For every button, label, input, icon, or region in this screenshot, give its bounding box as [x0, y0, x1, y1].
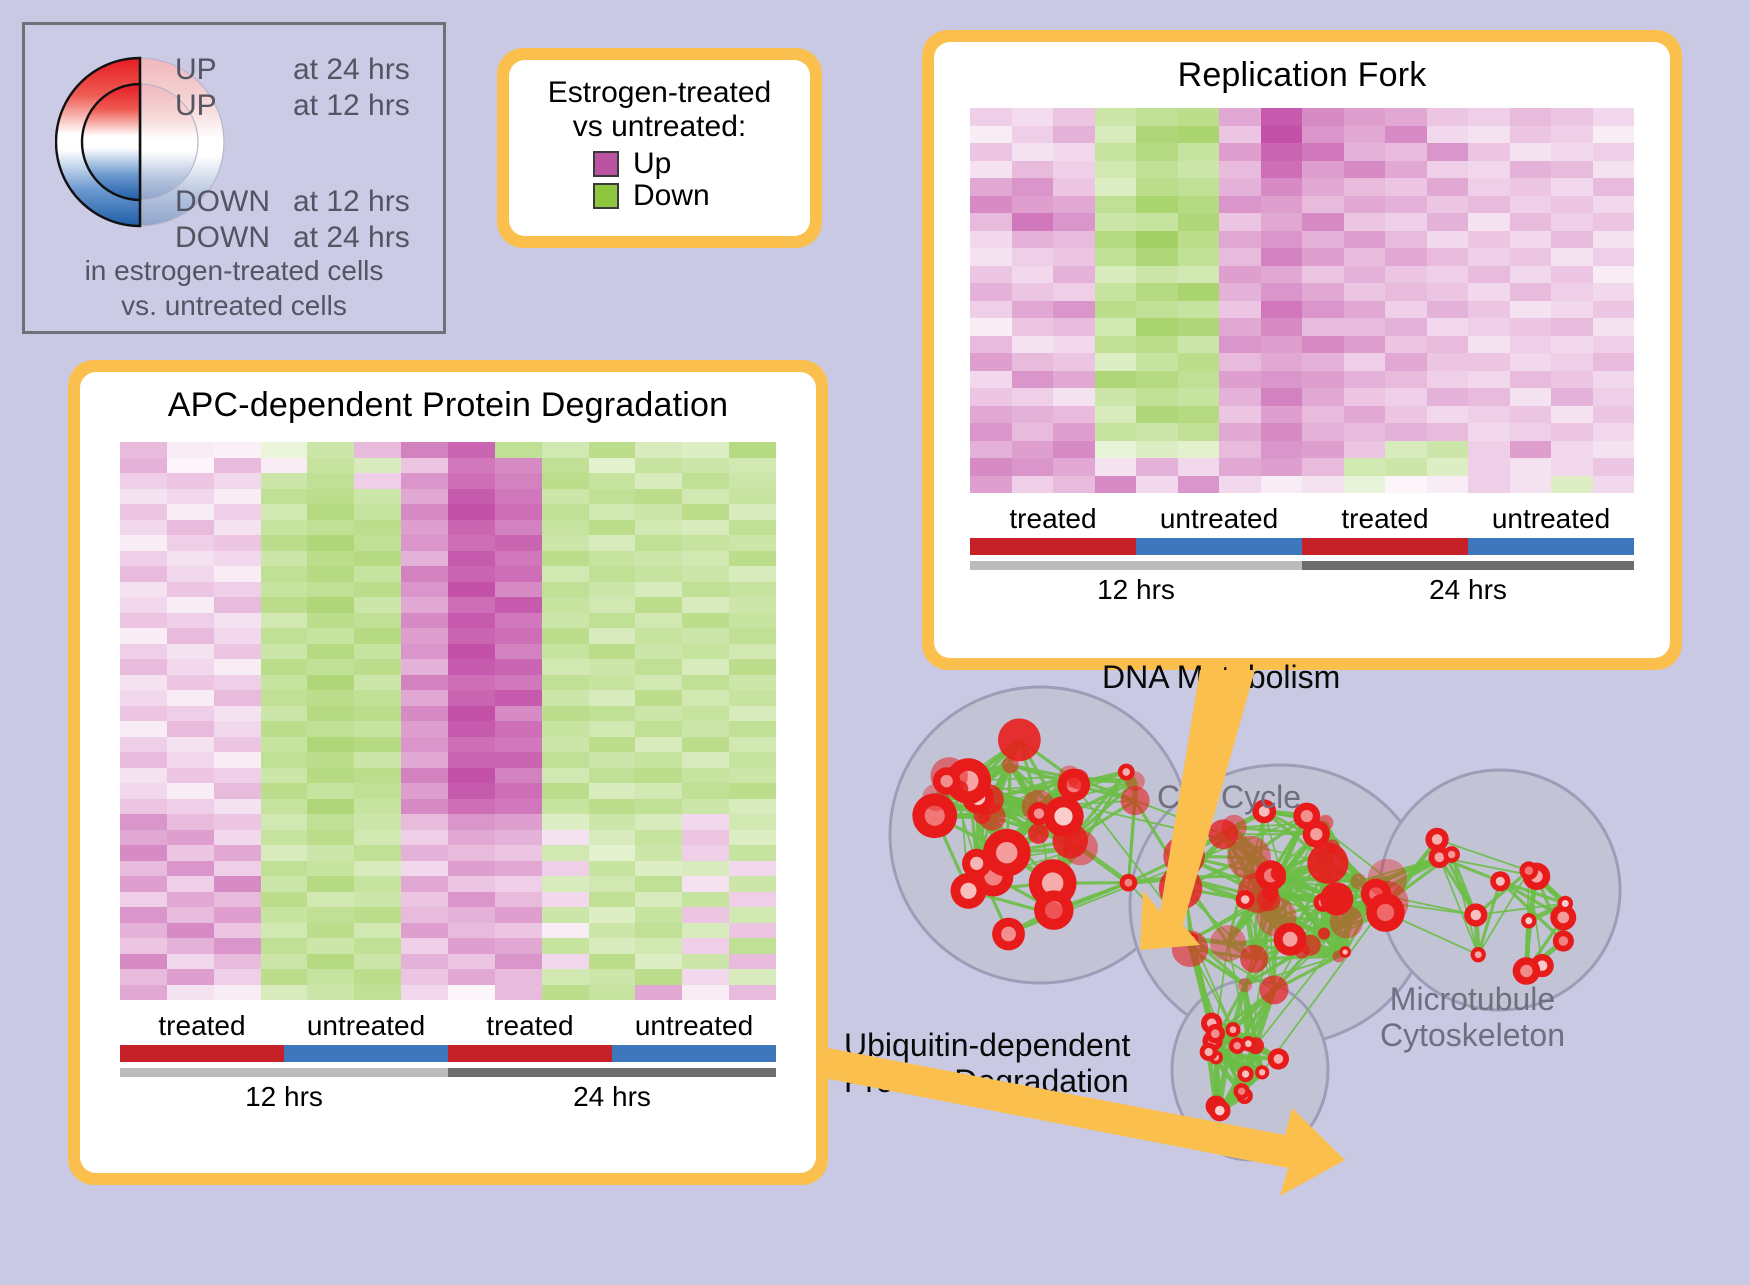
heatmap-cell [1219, 108, 1261, 126]
heatmap-cell [120, 861, 167, 877]
heatmap-cell [970, 196, 1012, 214]
heatmap-cell [1302, 283, 1344, 301]
heatmap-cell [1344, 476, 1386, 494]
heatmap-cell [214, 969, 261, 985]
heatmap-cell [1012, 231, 1054, 249]
network-node[interactable] [1039, 901, 1064, 926]
heatmap-cell [1593, 318, 1635, 336]
heatmap-cell [401, 954, 448, 970]
network-node-center [1559, 936, 1569, 946]
heatmap-cell [729, 613, 776, 629]
heatmap-cell [1593, 423, 1635, 441]
heatmap-cell [542, 721, 589, 737]
heatmap-cell [1178, 283, 1220, 301]
heatmap-cell [635, 520, 682, 536]
heatmap-cell [589, 845, 636, 861]
group-label: treated [1302, 503, 1468, 535]
heatmap-cell [1095, 213, 1137, 231]
heatmap-cell [635, 938, 682, 954]
heatmap-cell [542, 892, 589, 908]
heatmap-cell [1551, 248, 1593, 266]
heatmap-cell [635, 721, 682, 737]
key-row: UP at 12 hrs [175, 91, 445, 121]
heatmap-cell [635, 923, 682, 939]
heatmap-cell [970, 283, 1012, 301]
key-timepoint: at 24 hrs [293, 223, 410, 253]
heatmap-cell [1136, 266, 1178, 284]
heatmap-cell [729, 628, 776, 644]
heatmap-cell [1593, 266, 1635, 284]
heatmap-cell [401, 845, 448, 861]
time-bar-12hrs [970, 561, 1302, 570]
network-node-center [1054, 807, 1072, 825]
heatmap-cell [167, 969, 214, 985]
heatmap-cell [401, 768, 448, 784]
heatmap-cell [682, 659, 729, 675]
heatmap-cell [970, 108, 1012, 126]
heatmap-cell [120, 985, 167, 1001]
heatmap-cell [1136, 231, 1178, 249]
heatmap-cell [214, 597, 261, 613]
heatmap-cell [1344, 178, 1386, 196]
heatmap-cell [261, 582, 308, 598]
heatmap-cell [729, 845, 776, 861]
heatmap-axis: treated untreated treated untreated 12 h [970, 503, 1634, 606]
heatmap-cell [1095, 423, 1137, 441]
heatmap-cell [354, 690, 401, 706]
network-node[interactable] [973, 807, 990, 824]
heatmap-cell [682, 737, 729, 753]
heatmap-cell [1012, 388, 1054, 406]
heatmap-cell [682, 923, 729, 939]
heatmap-cell [120, 923, 167, 939]
network-node[interactable] [1238, 978, 1252, 992]
heatmap-cell [542, 985, 589, 1001]
network-node-center [1434, 852, 1444, 862]
heatmap-cell [307, 814, 354, 830]
heatmap-cell [1053, 458, 1095, 476]
heatmap-cell [354, 768, 401, 784]
heatmap-cell [495, 938, 542, 954]
heatmap-cell [261, 597, 308, 613]
heatmap-cell [354, 520, 401, 536]
heatmap-cell [401, 628, 448, 644]
heatmap-cell [1178, 458, 1220, 476]
heatmap-cell [1178, 318, 1220, 336]
heatmap-cell [635, 551, 682, 567]
heatmap-cell [307, 458, 354, 474]
heatmap-cell [1427, 283, 1469, 301]
network-node[interactable] [922, 784, 949, 811]
heatmap-cell [1344, 406, 1386, 424]
heatmap-cell [1551, 126, 1593, 144]
heatmap-cell [1053, 266, 1095, 284]
heatmap-cell [542, 783, 589, 799]
heatmap-cell [1468, 336, 1510, 354]
heatmap-cell [1053, 318, 1095, 336]
heatmap-cell [120, 721, 167, 737]
heatmap-cell [1427, 178, 1469, 196]
network-node[interactable] [1365, 881, 1409, 925]
network-node-center [1448, 851, 1456, 859]
heatmap-cell [682, 644, 729, 660]
heatmap-cell [1427, 126, 1469, 144]
heatmap-cell [729, 582, 776, 598]
heatmap-cell [1261, 161, 1303, 179]
heatmap-cell [1551, 231, 1593, 249]
heatmap-cell [682, 907, 729, 923]
heatmap-cell [1261, 196, 1303, 214]
heatmap-cell [354, 954, 401, 970]
network-node[interactable] [1002, 757, 1019, 774]
heatmap-cell [1593, 388, 1635, 406]
group-labels: treated untreated treated untreated [970, 503, 1634, 535]
heatmap-cell [354, 783, 401, 799]
network-node[interactable] [1318, 928, 1330, 940]
heatmap-cell [1344, 196, 1386, 214]
heatmap-cell [970, 458, 1012, 476]
heatmap-cell [1136, 406, 1178, 424]
heatmap-cell [120, 830, 167, 846]
heatmap-cell [354, 737, 401, 753]
heatmap-cell [261, 690, 308, 706]
network-node[interactable] [1330, 905, 1363, 938]
heatmap-cell [682, 876, 729, 892]
heatmap-cell [354, 861, 401, 877]
heatmap-cell [729, 706, 776, 722]
heatmap-cell [1344, 353, 1386, 371]
heatmap-cell [1427, 476, 1469, 494]
heatmap-cell [1385, 336, 1427, 354]
heatmap-cell [401, 830, 448, 846]
cluster-label-dna-metabolism: DNA Metabolism [1102, 660, 1340, 696]
heatmap-cell [448, 675, 495, 691]
heatmap-cell [120, 566, 167, 582]
heatmap-cell [635, 566, 682, 582]
heatmap-cell [970, 301, 1012, 319]
heatmap-cell [307, 644, 354, 660]
heatmap-cell [167, 613, 214, 629]
heatmap-cell [307, 783, 354, 799]
heatmap-cell [495, 783, 542, 799]
heatmap-cell [167, 473, 214, 489]
heatmap-cell [970, 336, 1012, 354]
heatmap-cell [1468, 161, 1510, 179]
heatmap-cell [307, 954, 354, 970]
heatmap-cell [1344, 318, 1386, 336]
heatmap-cell [448, 504, 495, 520]
heatmap-cell [1510, 476, 1552, 494]
heatmap-cell [495, 814, 542, 830]
heatmap-cell [729, 938, 776, 954]
heatmap-cell [354, 752, 401, 768]
heatmap-cell [261, 969, 308, 985]
heatmap-cell [589, 969, 636, 985]
heatmap-cell [635, 892, 682, 908]
heatmap-cell [1095, 178, 1137, 196]
heatmap-cell [1427, 143, 1469, 161]
heatmap-cell [1053, 423, 1095, 441]
network-node-center [1242, 1070, 1249, 1077]
time-bar [970, 561, 1634, 570]
heatmap-cell [354, 907, 401, 923]
network-node[interactable] [1271, 866, 1286, 881]
heatmap-cell [448, 845, 495, 861]
heatmap-cell [729, 923, 776, 939]
heatmap-cell [214, 923, 261, 939]
heatmap-cell [1261, 213, 1303, 231]
heatmap-cell [635, 659, 682, 675]
heatmap-cell [1178, 213, 1220, 231]
heatmap-cell [589, 768, 636, 784]
heatmap-cell [682, 845, 729, 861]
heatmap-cell [1261, 423, 1303, 441]
network-node[interactable] [1068, 769, 1088, 789]
heatmap-cell [1261, 336, 1303, 354]
heatmap-cell [1510, 266, 1552, 284]
heatmap-cell [167, 442, 214, 458]
heatmap-cell [261, 799, 308, 815]
heatmap-cell [1551, 336, 1593, 354]
heatmap-cell [1261, 476, 1303, 494]
heatmap-cell [1468, 213, 1510, 231]
heatmap-cell [401, 752, 448, 768]
heatmap-cell [1012, 108, 1054, 126]
heatmap-cell [120, 613, 167, 629]
heatmap-cell [448, 799, 495, 815]
network-node[interactable] [998, 718, 1041, 761]
heatmap-cell [1593, 441, 1635, 459]
pathway-network[interactable]: DNA Metabolism Cell Cycle Microtubule Cy… [880, 620, 1750, 1280]
heatmap-cell [1344, 441, 1386, 459]
heatmap-cell [1095, 336, 1137, 354]
heatmap-cell [261, 892, 308, 908]
heatmap-cell [542, 706, 589, 722]
heatmap-cell [448, 582, 495, 598]
heatmap-cell [354, 892, 401, 908]
heatmap-cell [1219, 441, 1261, 459]
heatmap-cell [495, 582, 542, 598]
network-node[interactable] [1351, 873, 1367, 889]
heatmap-cell [401, 969, 448, 985]
heatmap-cell [167, 752, 214, 768]
heatmap-cell [354, 706, 401, 722]
untreated-bar-segment [612, 1045, 776, 1062]
heatmap-cell [261, 814, 308, 830]
heatmap-cell [354, 923, 401, 939]
heatmap-cell [970, 476, 1012, 494]
heatmap-cell [682, 551, 729, 567]
legend-heading: Estrogen-treated vs untreated: [521, 76, 798, 143]
heatmap-cell [261, 938, 308, 954]
heatmap-cell [1095, 248, 1137, 266]
network-node[interactable] [1172, 931, 1208, 967]
heatmap-cell [1385, 458, 1427, 476]
heatmap-cell [401, 706, 448, 722]
heatmap-cell [1219, 196, 1261, 214]
heatmap-cell [589, 752, 636, 768]
heatmap-cell [261, 985, 308, 1001]
heatmap-cell [214, 706, 261, 722]
heatmap-cell [307, 659, 354, 675]
heatmap-cell [1095, 318, 1137, 336]
heatmap-cell [682, 814, 729, 830]
heatmap-cell [1053, 196, 1095, 214]
heatmap-cell [542, 597, 589, 613]
heatmap-cell [729, 473, 776, 489]
heatmap-cell [1302, 126, 1344, 144]
up-swatch-icon [593, 151, 619, 177]
heatmap-cell [1551, 371, 1593, 389]
heatmap-cell [1510, 178, 1552, 196]
heatmap-cell [635, 830, 682, 846]
heatmap-cell [1012, 423, 1054, 441]
heatmap-cell [120, 675, 167, 691]
heatmap-cell [1261, 231, 1303, 249]
heatmap-cell [1593, 178, 1635, 196]
heatmap-cell [167, 706, 214, 722]
heatmap-cell [167, 489, 214, 505]
heatmap-cell [1178, 423, 1220, 441]
heatmap-cell [120, 737, 167, 753]
heatmap-cell [120, 969, 167, 985]
heatmap-cell [1302, 178, 1344, 196]
heatmap-cell [1136, 441, 1178, 459]
heatmap-cell [1261, 126, 1303, 144]
heatmap-cell [214, 566, 261, 582]
heatmap-cell [307, 892, 354, 908]
heatmap-cell [448, 628, 495, 644]
heatmap-cell [1053, 283, 1095, 301]
heatmap-cell [682, 752, 729, 768]
heatmap-cell [401, 566, 448, 582]
heatmap-cell [261, 768, 308, 784]
heatmap-cell [401, 985, 448, 1001]
network-node[interactable] [1028, 823, 1049, 844]
heatmap-cell [401, 504, 448, 520]
heatmap-cell [448, 458, 495, 474]
heatmap-cell [1136, 126, 1178, 144]
heatmap-cell [261, 954, 308, 970]
network-node[interactable] [1210, 925, 1246, 961]
heatmap-cell [261, 923, 308, 939]
heatmap-cell [1136, 318, 1178, 336]
heatmap-cell [1302, 248, 1344, 266]
heatmap-cell [1012, 196, 1054, 214]
heatmap-cell [542, 566, 589, 582]
heatmap-cell [1385, 231, 1427, 249]
key-direction: UP [175, 91, 293, 121]
heatmap-cell [589, 938, 636, 954]
heatmap-cell [542, 659, 589, 675]
heatmap-cell [448, 768, 495, 784]
heatmap-cell [1261, 266, 1303, 284]
key-row: UP at 24 hrs [175, 55, 445, 85]
heatmap-cell [261, 675, 308, 691]
network-node[interactable] [1260, 975, 1289, 1004]
heatmap-cell [1427, 441, 1469, 459]
heatmap-cell [1012, 248, 1054, 266]
heatmap-cell [542, 830, 589, 846]
network-node-center [1238, 1088, 1245, 1095]
heatmap-cell [1468, 266, 1510, 284]
heatmap-cell [1136, 196, 1178, 214]
network-node[interactable] [1125, 772, 1144, 791]
heatmap-cell [589, 861, 636, 877]
heatmap-cell [214, 582, 261, 598]
heatmap-cell [1510, 353, 1552, 371]
apc-degradation-panel: APC-dependent Protein Degradation treate… [68, 360, 828, 1185]
heatmap-grid[interactable] [970, 108, 1634, 493]
heatmap-cell [261, 845, 308, 861]
heatmap-cell [729, 768, 776, 784]
heatmap-cell [167, 675, 214, 691]
heatmap-cell [448, 442, 495, 458]
heatmap-cell [542, 752, 589, 768]
network-node[interactable] [1227, 836, 1271, 880]
network-node[interactable] [952, 781, 968, 797]
heatmap-cell [495, 659, 542, 675]
heatmap-cell [1510, 143, 1552, 161]
heatmap-cell [307, 938, 354, 954]
heatmap-cell [1551, 213, 1593, 231]
heatmap-cell [1468, 301, 1510, 319]
heatmap-cell [120, 473, 167, 489]
heatmap-cell [1344, 301, 1386, 319]
heatmap-cell [401, 721, 448, 737]
heatmap-cell [120, 597, 167, 613]
heatmap-cell [448, 706, 495, 722]
heatmap-cell [448, 659, 495, 675]
network-node[interactable] [1307, 843, 1348, 884]
heatmap-cell [167, 520, 214, 536]
heatmap-cell [1344, 143, 1386, 161]
heatmap-cell [542, 613, 589, 629]
network-graph[interactable] [880, 620, 1750, 1280]
heatmap-cell [1012, 283, 1054, 301]
heatmap-cell [448, 861, 495, 877]
network-node-center [1176, 871, 1188, 883]
heatmap-cell [1551, 161, 1593, 179]
heatmap-cell [448, 923, 495, 939]
heatmap-cell [1427, 336, 1469, 354]
network-node[interactable] [1063, 830, 1098, 865]
heatmap-cell [682, 690, 729, 706]
heatmap-cell [635, 690, 682, 706]
heatmap-cell [214, 876, 261, 892]
heatmap-cell [1468, 231, 1510, 249]
heatmap-cell [1593, 196, 1635, 214]
heatmap-cell [1468, 423, 1510, 441]
heatmap-cell [354, 938, 401, 954]
heatmap-cell [214, 799, 261, 815]
heatmap-cell [635, 644, 682, 660]
heatmap-cell [970, 231, 1012, 249]
heatmap-cell [495, 473, 542, 489]
heatmap-cell [448, 690, 495, 706]
heatmap-cell [354, 504, 401, 520]
heatmap-cell [1302, 301, 1344, 319]
heatmap-cell [1095, 108, 1137, 126]
heatmap-cell [495, 628, 542, 644]
heatmap-cell [1178, 406, 1220, 424]
heatmap-cell [1219, 283, 1261, 301]
heatmap-cell [729, 892, 776, 908]
heatmap-cell [589, 458, 636, 474]
heatmap-cell [589, 690, 636, 706]
heatmap-cell [495, 768, 542, 784]
heatmap-grid[interactable] [120, 442, 776, 1000]
